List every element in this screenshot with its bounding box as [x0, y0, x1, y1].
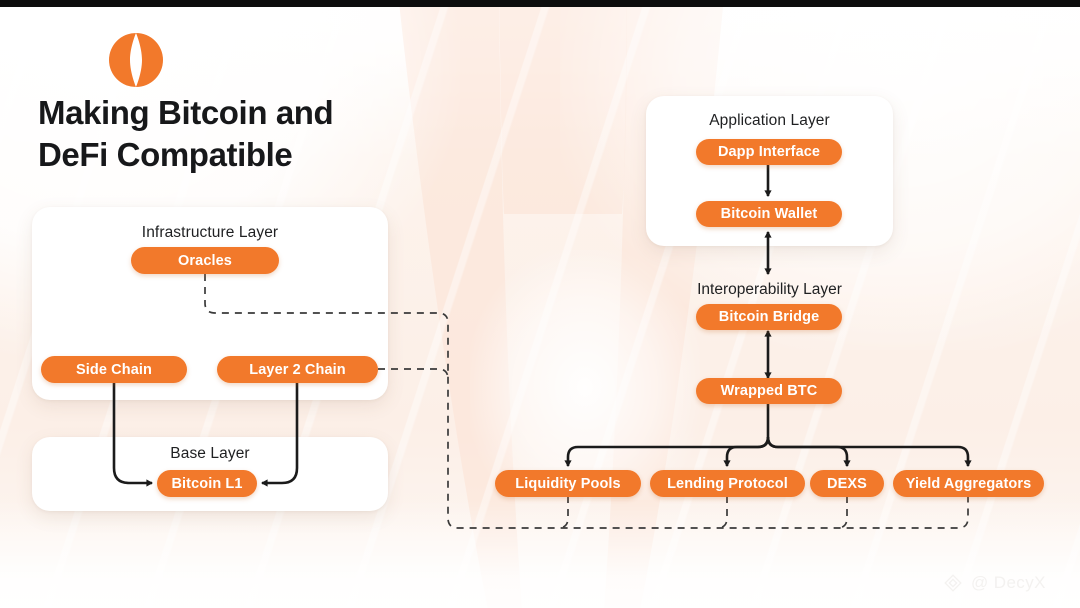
node-oracles[interactable]: Oracles — [131, 247, 279, 274]
infrastructure-layer-title: Infrastructure Layer — [32, 224, 388, 242]
watermark: @ DecyX — [942, 572, 1046, 594]
top-black-bar — [0, 0, 1080, 7]
node-dapp-interface[interactable]: Dapp Interface — [696, 139, 842, 165]
interoperability-layer-title: Interoperability Layer — [646, 281, 893, 299]
diamond-logo-icon — [942, 572, 964, 594]
node-lending-protocol[interactable]: Lending Protocol — [650, 470, 805, 497]
node-bitcoin-bridge[interactable]: Bitcoin Bridge — [696, 304, 842, 330]
node-yield-aggregators[interactable]: Yield Aggregators — [893, 470, 1044, 497]
node-liquidity-pools[interactable]: Liquidity Pools — [495, 470, 641, 497]
node-layer-2-chain[interactable]: Layer 2 Chain — [217, 356, 378, 383]
node-wrapped-btc[interactable]: Wrapped BTC — [696, 378, 842, 404]
decyx-h-logo-icon — [109, 33, 163, 87]
application-layer-title: Application Layer — [646, 112, 893, 130]
base-layer-title: Base Layer — [32, 445, 388, 463]
slide-canvas: Making Bitcoin and DeFi Compatible Infra… — [0, 0, 1080, 608]
page-title-line-1: Making Bitcoin and — [38, 94, 333, 131]
background-glow-bottom — [0, 500, 1080, 608]
page-title: Making Bitcoin and DeFi Compatible — [38, 92, 518, 176]
node-bitcoin-wallet[interactable]: Bitcoin Wallet — [696, 201, 842, 227]
node-bitcoin-l1[interactable]: Bitcoin L1 — [157, 470, 257, 497]
node-dexs[interactable]: DEXS — [810, 470, 884, 497]
watermark-text: @ DecyX — [971, 573, 1046, 593]
node-side-chain[interactable]: Side Chain — [41, 356, 187, 383]
page-title-line-2: DeFi Compatible — [38, 134, 518, 176]
